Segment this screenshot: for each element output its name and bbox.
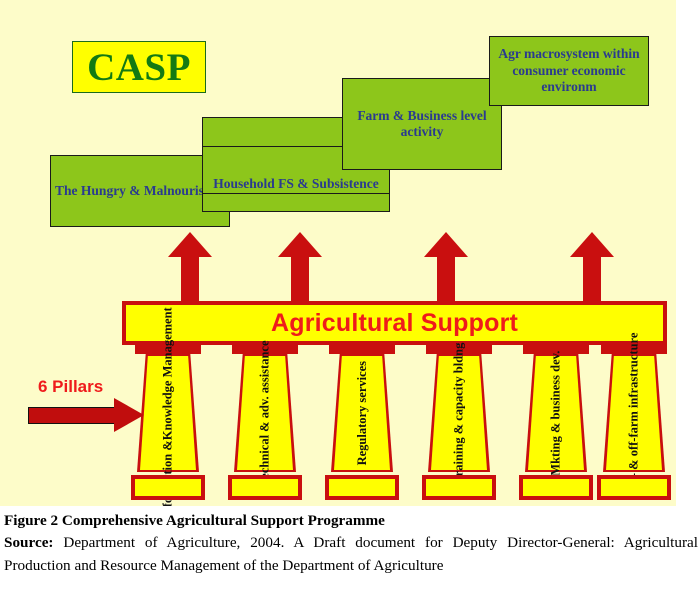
agricultural-support-label: Agricultural Support: [271, 311, 518, 336]
pillar-base: [325, 475, 399, 500]
pillar-mkting-business-dev: Mkting & business dev.: [519, 345, 593, 505]
arrow-shaft: [28, 407, 116, 424]
up-arrow-icon: [168, 232, 212, 306]
pillar-capital: [329, 345, 395, 354]
up-arrow-icon: [570, 232, 614, 306]
right-arrow-icon: [28, 398, 148, 432]
pillar-label-wrap: On- & off-farm infrastructure: [603, 354, 665, 472]
caption-source-text: Department of Agriculture, 2004. A Draft…: [4, 534, 698, 573]
arrow-shaft: [583, 254, 601, 306]
pillar-label: Technical & adv. assistance: [258, 340, 272, 485]
figure-canvas: CASP The Hungry & Malnourished Household…: [0, 0, 676, 506]
pillar-label: Mkting & business dev.: [549, 350, 563, 475]
six-pillars-label: 6 Pillars: [38, 378, 103, 395]
pillar-label-wrap: Regulatory services: [331, 354, 393, 472]
pillar-base: [519, 475, 593, 500]
caption-source: Source: Department of Agriculture, 2004.…: [4, 532, 698, 577]
pillar-on-off-farm-infrastructure: On- & off-farm infrastructure: [597, 345, 671, 505]
page-root: CASP The Hungry & Malnourished Household…: [0, 0, 700, 593]
pillar-label-wrap: Mkting & business dev.: [525, 354, 587, 472]
pillar-label: On- & off-farm infrastructure: [627, 332, 641, 493]
arrow-shaft: [181, 254, 199, 306]
pillar-base: [131, 475, 205, 500]
up-arrow-icon: [424, 232, 468, 306]
step-label: Household FS & Subsistence: [209, 176, 382, 192]
pillar-technical-adv-assistance: Technical & adv. assistance: [228, 345, 302, 505]
casp-title-box: CASP: [72, 41, 206, 93]
pillar-base: [597, 475, 671, 500]
pillar-regulatory-services: Regulatory services: [325, 345, 399, 505]
up-arrow-icon: [278, 232, 322, 306]
pillar-label-wrap: Training & capacity bldng: [428, 354, 490, 472]
step-box-agr-macrosystem: Agr macrosystem within consumer economic…: [489, 36, 649, 106]
caption-figure-label: Figure 2 Comprehensive Agricultural Supp…: [4, 510, 698, 532]
pillar-training-capacity-bldng: Training & capacity bldng: [422, 345, 496, 505]
step-label: Farm & Business level activity: [343, 108, 501, 141]
arrow-shaft: [437, 254, 455, 306]
pillar-base: [228, 475, 302, 500]
casp-title-label: CASP: [87, 48, 191, 87]
step-label: Agr macrosystem within consumer economic…: [490, 46, 648, 95]
caption-source-label: Source:: [4, 534, 54, 551]
step-box-farm-and-business-level-activity: Farm & Business level activity: [342, 78, 502, 170]
figure-caption: Figure 2 Comprehensive Agricultural Supp…: [4, 510, 698, 577]
pillar-label-wrap: Technical & adv. assistance: [234, 354, 296, 472]
arrow-shaft: [291, 254, 309, 306]
pillar-label: Regulatory services: [355, 361, 369, 465]
pillar-label: Training & capacity bldng: [452, 342, 466, 483]
pillar-base: [422, 475, 496, 500]
arrow-head: [114, 398, 144, 432]
agricultural-support-bar: Agricultural Support: [122, 301, 667, 345]
